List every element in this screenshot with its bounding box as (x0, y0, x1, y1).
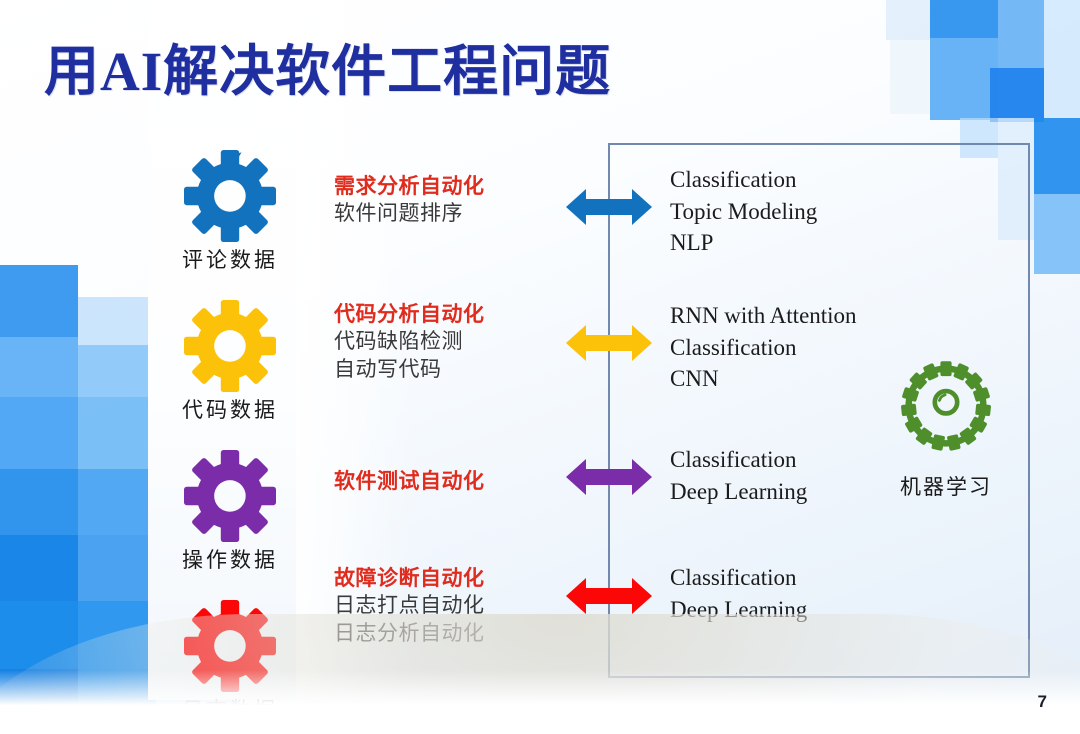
method-line: Classification (670, 562, 1000, 594)
task-block-code: 代码分析自动化 代码缺陷检测 自动写代码 (334, 298, 564, 383)
task-heading: 代码分析自动化 (334, 298, 564, 328)
data-source-item-comments[interactable]: 评论数据 (160, 150, 300, 274)
double-arrow-icon-testing (566, 456, 652, 503)
method-line: Classification (670, 164, 1000, 196)
task-line: 软件问题排序 (334, 200, 564, 228)
data-source-label: 评论数据 (160, 244, 300, 274)
task-line: 自动写代码 (334, 356, 564, 384)
gear-icon (160, 450, 300, 542)
task-line: 代码缺陷检测 (334, 328, 564, 356)
double-arrow-icon-requirements (566, 186, 652, 233)
gear-outline-icon (888, 350, 1004, 462)
method-line: Topic Modeling (670, 196, 1000, 228)
double-arrow-icon-code (566, 322, 652, 369)
task-block-requirements: 需求分析自动化 软件问题排序 (334, 170, 564, 228)
method-line: NLP (670, 227, 1000, 259)
slide-canvas: 用AI解决软件工程问题 (0, 0, 1080, 734)
data-source-label: 代码数据 (160, 394, 300, 424)
gear-icon (160, 150, 300, 242)
method-line: RNN with Attention (670, 300, 1000, 332)
gear-icon (160, 300, 300, 392)
bottom-white-band (0, 670, 1080, 734)
data-source-item-code[interactable]: 代码数据 (160, 300, 300, 424)
machine-learning-label: 机器学习 (888, 471, 1004, 501)
page-title: 用AI解决软件工程问题 (44, 26, 611, 106)
machine-learning-block[interactable]: 机器学习 (888, 350, 1004, 501)
task-heading: 需求分析自动化 (334, 170, 564, 200)
task-heading: 软件测试自动化 (334, 465, 564, 495)
task-block-testing: 软件测试自动化 (334, 465, 564, 495)
data-source-item-operations[interactable]: 操作数据 (160, 450, 300, 574)
page-number: 7 (1038, 692, 1047, 712)
task-heading: 故障诊断自动化 (334, 562, 564, 592)
data-source-label: 操作数据 (160, 544, 300, 574)
method-block-requirements: Classification Topic Modeling NLP (670, 164, 1000, 259)
